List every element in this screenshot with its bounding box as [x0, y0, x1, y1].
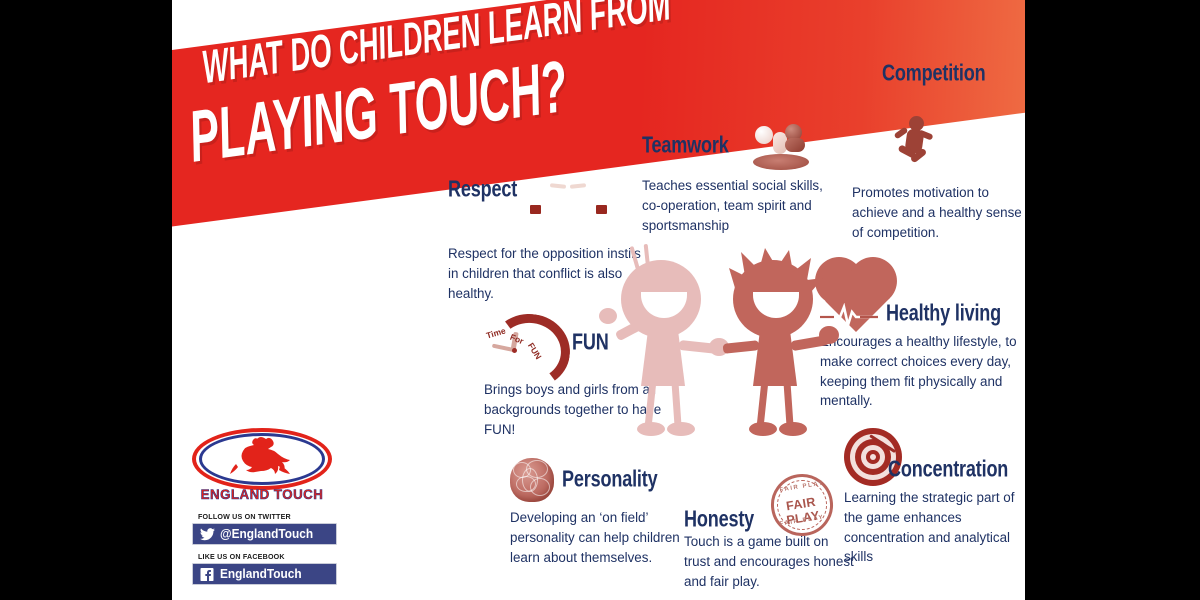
twitter-caption: FOLLOW US ON TWITTER	[198, 512, 330, 521]
letterbox-bar-left	[0, 0, 172, 600]
twitter-button[interactable]: @EnglandTouch	[192, 523, 337, 545]
fair-play-stamp-icon: FAIR PLAY FAIR PLAY FAIR PLAY	[771, 474, 833, 536]
brain-icon	[510, 458, 554, 502]
section-teamwork: Teamwork Teaches essential social skills…	[642, 122, 832, 235]
section-body: Developing an ‘on field’ personality can…	[510, 508, 690, 567]
section-body: Teaches essential social skills, co-oper…	[642, 176, 832, 235]
facebook-handle: EnglandTouch	[220, 567, 302, 581]
section-body: Learning the strategic part of the game …	[844, 488, 1024, 567]
handshake-icon	[530, 162, 614, 218]
section-body: Encourages a healthy lifestyle, to make …	[820, 332, 1025, 411]
section-heading: Healthy living	[886, 301, 1001, 328]
section-body: Promotes motivation to achieve and a hea…	[852, 183, 1024, 242]
social-links: FOLLOW US ON TWITTER @EnglandTouch LIKE …	[192, 512, 337, 592]
section-competition: Competition Promotes motivation to achie…	[852, 62, 1024, 242]
letterbox-bar-right	[1025, 0, 1200, 600]
section-heading: Teamwork	[642, 133, 729, 160]
facebook-f-icon	[200, 568, 215, 581]
section-heading: Honesty	[684, 507, 754, 534]
section-heading: Concentration	[888, 457, 1008, 484]
two-children-illustration	[597, 246, 837, 458]
section-heading: Personality	[562, 467, 657, 494]
section-heading: Respect	[448, 177, 517, 204]
lion-icon	[228, 436, 298, 482]
section-heading: Competition	[882, 61, 1004, 88]
facebook-button[interactable]: EnglandTouch	[192, 563, 337, 585]
crowd-runner-icon	[852, 86, 997, 176]
teamwork-icon	[745, 122, 815, 170]
section-healthy-living: Healthy living Encourages a healthy life…	[820, 272, 1025, 411]
section-body: Touch is a game built on trust and encou…	[684, 532, 854, 591]
clock-icon: Time For FUN	[484, 312, 560, 374]
logo-text: ENGLAND TOUCH	[196, 486, 329, 502]
infographic-poster: WHAT DO CHILDREN LEARN FROM PLAYING TOUC…	[0, 0, 1200, 600]
poster-canvas: WHAT DO CHILDREN LEARN FROM PLAYING TOUC…	[172, 0, 1025, 600]
twitter-bird-icon	[200, 528, 215, 541]
twitter-handle: @EnglandTouch	[220, 527, 313, 541]
section-honesty: Honesty FAIR PLAY FAIR PLAY FAIR PLAY To…	[684, 492, 854, 591]
facebook-caption: LIKE US ON FACEBOOK	[198, 552, 330, 561]
england-touch-lion-logo: ENGLAND TOUCH	[192, 428, 332, 502]
section-concentration: Concentration Learning the strategic par…	[844, 428, 1024, 567]
section-personality: Personality Developing an ‘on field’ per…	[510, 458, 690, 567]
